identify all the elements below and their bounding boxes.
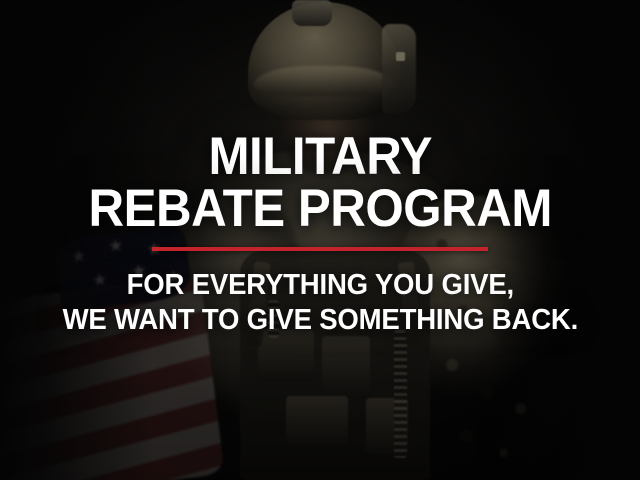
headline-line-1: MILITARY — [208, 127, 432, 186]
page-title: MILITARY REBATE PROGRAM — [88, 131, 552, 235]
headline-line-2: REBATE PROGRAM — [88, 183, 552, 235]
red-divider — [152, 247, 488, 251]
page-subtitle: FOR EVERYTHING YOU GIVE, WE WANT TO GIVE… — [62, 268, 578, 338]
subheadline-line-2: WE WANT TO GIVE SOMETHING BACK. — [62, 303, 578, 338]
military-rebate-banner: ★ ★ ★ ★ ★ ★ MILITARY REBATE PROGRAM FOR … — [0, 0, 640, 480]
subheadline-line-1: FOR EVERYTHING YOU GIVE, — [126, 269, 513, 301]
banner-content: MILITARY REBATE PROGRAM FOR EVERYTHING Y… — [0, 0, 640, 480]
